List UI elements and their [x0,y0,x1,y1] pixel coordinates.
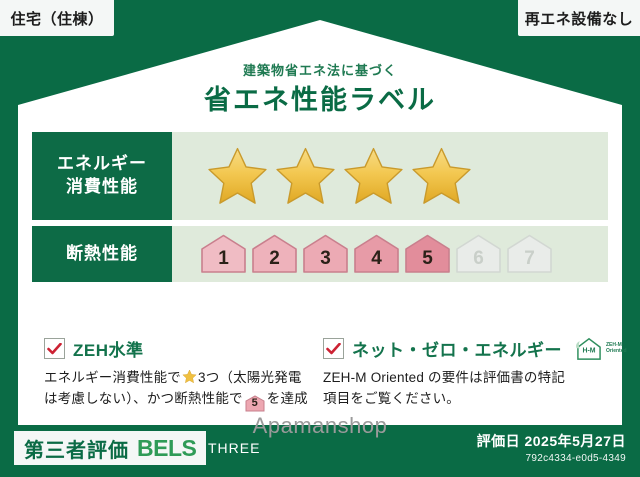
insulation-grade-4: 4 [353,233,400,275]
label-content: 建築物省エネ法に基づく 省エネ性能ラベル エネルギー 消費性能 断熱性能 [18,20,622,425]
star-icon [342,145,405,207]
inline-grade-badge: 5 [245,395,265,410]
note-net-zero-energy-body: ZEH-M Oriented の要件は評価書の特記 項目をご覧ください。 [323,368,602,410]
insulation-grade-value: 2 [269,248,280,270]
star-rating [206,145,473,207]
note-net-zero-energy-header: ネット・ゼロ・エネルギー H-M ZEH-M Oriented [323,336,602,361]
zeh-m-oriented-logo: H-M ZEH-M Oriented [574,337,627,361]
star-icon [410,145,473,207]
star-icon [274,145,337,207]
performance-rows: エネルギー 消費性能 断熱性能 1234567 [32,132,608,288]
note-net-zero-body-line2: 項目をご覧ください。 [323,391,460,406]
note-zeh-standard-header: ZEH水準 [44,336,313,361]
energy-performance-label: 住宅（住棟） 再エネ設備なし 建築物省エネ法に基づく 省エネ性能ラベル エネルギ… [0,0,640,477]
zeh-house-icon: H-M [574,337,604,361]
insulation-grade-7: 7 [506,233,553,275]
evaluator-name: THREE [208,440,260,456]
net-zero-energy-checkbox[interactable] [323,338,344,359]
badge-renewable-equipment-text: 再エネ設備なし [525,8,634,29]
note-zeh-standard-body: エネルギー消費性能で3つ（太陽光発電 は考慮しない）、かつ断熱性能で5を達成 [44,368,313,410]
insulation-grade-3: 3 [302,233,349,275]
label-title: 省エネ性能ラベル [18,78,622,117]
insulation-grade-6: 6 [455,233,502,275]
row-energy-label: エネルギー 消費性能 [32,132,172,220]
badge-building-type: 住宅（住棟） [0,0,114,36]
evaluation-date: 評価日 2025年5月27日 [477,431,626,451]
insulation-grade-5: 5 [404,233,451,275]
insulation-grade-value: 1 [218,248,229,270]
row-insulation-label: 断熱性能 [32,226,172,282]
badge-building-type-text: 住宅（住棟） [10,8,103,29]
insulation-grade-2: 2 [251,233,298,275]
check-icon [326,343,341,355]
check-icon [47,343,62,355]
note-net-zero-energy-title: ネット・ゼロ・エネルギー [352,336,562,361]
note-net-zero-energy: ネット・ゼロ・エネルギー H-M ZEH-M Oriented [323,336,602,410]
insulation-grade-value: 4 [371,248,382,270]
zeh-logo-mark: H-M [582,347,595,354]
row-energy-label-line2: 消費性能 [57,176,147,199]
insulation-grade-value: 6 [473,248,484,270]
insulation-grade-value: 5 [422,248,433,270]
notes-section: ZEH水準 エネルギー消費性能で3つ（太陽光発電 は考慮しない）、かつ断熱性能で… [44,336,602,410]
row-energy-performance: エネルギー 消費性能 [32,132,608,220]
inline-grade-value: 5 [245,395,265,412]
zeh-logo-caption-bottom: Oriented [606,349,627,355]
evaluation-info: 評価日 2025年5月27日 792c4334-e0d5-4349 [477,431,626,464]
row-insulation-performance: 断熱性能 1234567 [32,226,608,282]
star-icon-inline [182,369,197,384]
zeh-standard-checkbox[interactable] [44,338,65,359]
insulation-grade-1: 1 [200,233,247,275]
insulation-grade-value: 3 [320,248,331,270]
insulation-grade-scale: 1234567 [200,233,553,275]
note-zeh-body-starcount: 3つ（太陽光発電 [198,370,302,385]
row-energy-value [172,132,608,220]
badge-renewable-equipment: 再エネ設備なし [518,0,640,36]
insulation-grade-value: 7 [524,248,535,270]
note-net-zero-body-line1: ZEH-M Oriented の要件は評価書の特記 [323,370,565,385]
row-energy-label-line1: エネルギー [57,153,147,176]
note-zeh-body-part1: エネルギー消費性能で [44,370,181,385]
note-zeh-body-part3: を達成 [267,391,308,406]
zeh-logo-caption: ZEH-M Oriented [606,343,627,355]
bels-logo-jp: 第三者評価 [24,434,129,463]
star-icon [206,145,269,207]
row-insulation-value: 1234567 [172,226,608,282]
label-subtitle: 建築物省エネ法に基づく [18,60,622,79]
evaluation-id: 792c4334-e0d5-4349 [477,453,626,464]
note-zeh-standard: ZEH水準 エネルギー消費性能で3つ（太陽光発電 は考慮しない）、かつ断熱性能で… [44,336,313,410]
note-zeh-standard-title: ZEH水準 [73,336,144,361]
bels-logo-en: BELS [137,435,196,462]
note-zeh-body-part2: は考慮しない）、かつ断熱性能で [44,391,243,406]
footer: 第三者評価 BELS THREE 評価日 2025年5月27日 792c4334… [0,425,640,477]
bels-logo: 第三者評価 BELS [14,431,206,465]
